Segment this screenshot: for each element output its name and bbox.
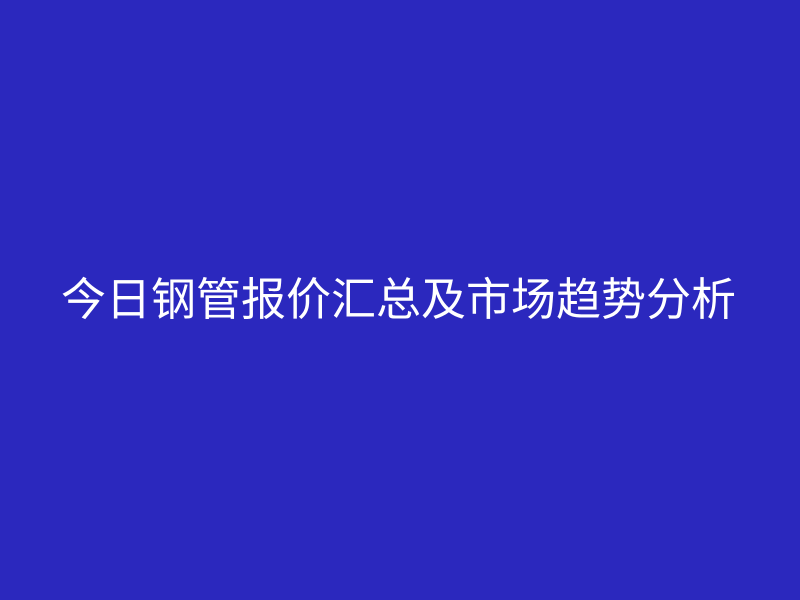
title-banner: 今日钢管报价汇总及市场趋势分析 xyxy=(0,0,800,600)
headline-block: 今日钢管报价汇总及市场趋势分析 xyxy=(0,0,800,600)
page-title: 今日钢管报价汇总及市场趋势分析 xyxy=(61,277,736,324)
